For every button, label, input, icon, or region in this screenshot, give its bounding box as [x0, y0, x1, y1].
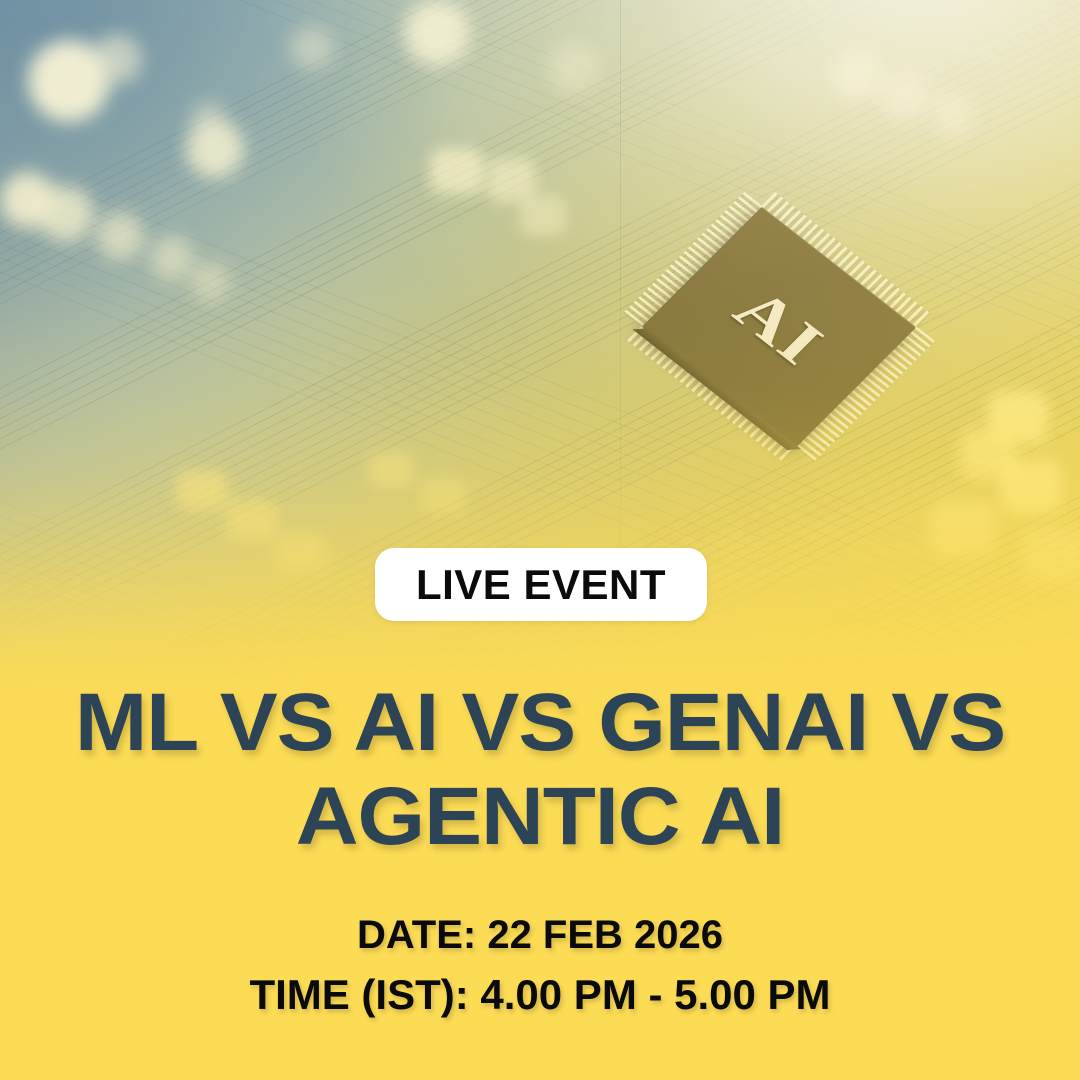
- poster-title-line-1: ML VS AI VS GENAI VS: [0, 676, 1080, 770]
- event-date-line: DATE: 22 FEB 2026: [0, 906, 1080, 964]
- event-time-line: TIME (IST): 4.00 PM - 5.00 PM: [0, 964, 1080, 1026]
- poster-title: ML VS AI VS GENAI VS AGENTIC AI: [0, 676, 1080, 864]
- live-event-badge-label: LIVE EVENT: [416, 564, 666, 606]
- event-details: DATE: 22 FEB 2026 TIME (IST): 4.00 PM - …: [0, 906, 1080, 1026]
- poster-title-line-2: AGENTIC AI: [0, 770, 1080, 864]
- poster-content: LIVE EVENT ML VS AI VS GENAI VS AGENTIC …: [0, 0, 1080, 1080]
- event-poster: AI: [0, 0, 1080, 1080]
- live-event-badge: LIVE EVENT: [375, 548, 707, 621]
